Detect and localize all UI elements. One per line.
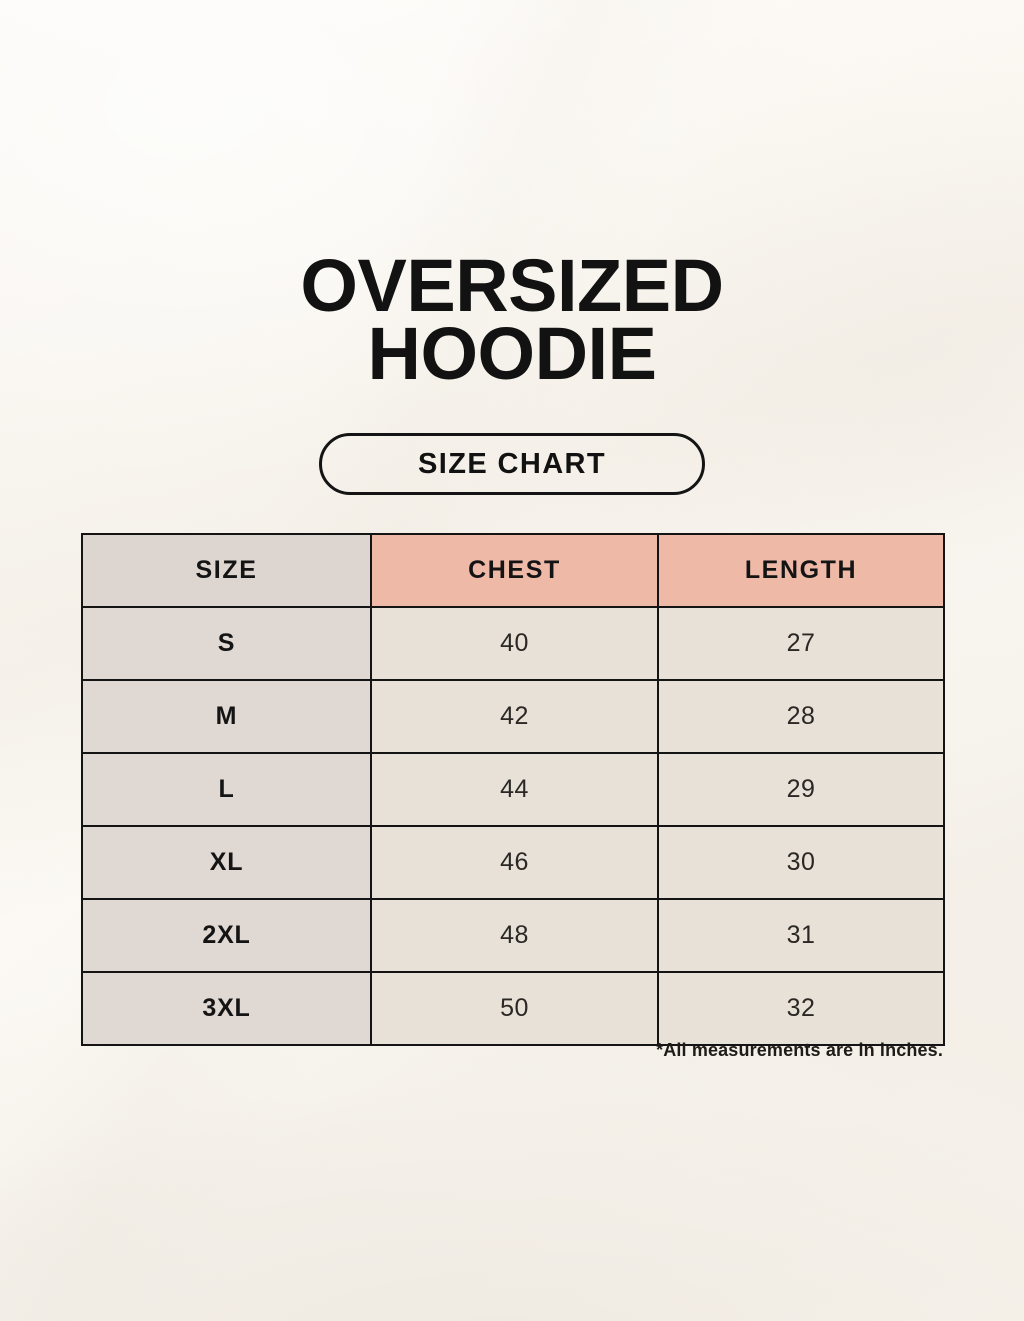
cell-size: 3XL: [82, 972, 371, 1045]
cell-size: L: [82, 753, 371, 826]
page-title: OVERSIZED HOODIE: [0, 252, 1024, 388]
title-line-1: OVERSIZED: [0, 252, 1024, 320]
cell-chest: 48: [371, 899, 658, 972]
size-table: SIZE CHEST LENGTH S 40 27 M 42 28 L: [81, 533, 945, 1046]
cell-length: 31: [658, 899, 944, 972]
size-chart-badge-label: SIZE CHART: [418, 448, 606, 481]
cell-chest: 46: [371, 826, 658, 899]
cell-length: 32: [658, 972, 944, 1045]
measurements-footnote: *All measurements are in inches.: [81, 1040, 943, 1061]
column-header-length: LENGTH: [658, 534, 944, 607]
cell-size: S: [82, 607, 371, 680]
size-chart-badge: SIZE CHART: [319, 433, 705, 495]
cell-chest: 42: [371, 680, 658, 753]
table-row: 2XL 48 31: [82, 899, 944, 972]
cell-size: M: [82, 680, 371, 753]
cell-chest: 50: [371, 972, 658, 1045]
size-chart-poster: OVERSIZED HOODIE SIZE CHART SIZE CHEST L…: [0, 0, 1024, 1321]
table-row: L 44 29: [82, 753, 944, 826]
table-row: 3XL 50 32: [82, 972, 944, 1045]
cell-size: 2XL: [82, 899, 371, 972]
size-table-container: SIZE CHEST LENGTH S 40 27 M 42 28 L: [81, 533, 943, 1046]
cell-length: 30: [658, 826, 944, 899]
cell-length: 28: [658, 680, 944, 753]
column-header-chest: CHEST: [371, 534, 658, 607]
table-row: M 42 28: [82, 680, 944, 753]
cell-size: XL: [82, 826, 371, 899]
table-row: XL 46 30: [82, 826, 944, 899]
table-row: S 40 27: [82, 607, 944, 680]
cell-length: 27: [658, 607, 944, 680]
cell-length: 29: [658, 753, 944, 826]
title-line-2: HOODIE: [0, 320, 1024, 388]
table-header-row: SIZE CHEST LENGTH: [82, 534, 944, 607]
size-table-body: S 40 27 M 42 28 L 44 29 XL 46 30: [82, 607, 944, 1045]
column-header-size: SIZE: [82, 534, 371, 607]
cell-chest: 40: [371, 607, 658, 680]
cell-chest: 44: [371, 753, 658, 826]
size-table-head: SIZE CHEST LENGTH: [82, 534, 944, 607]
